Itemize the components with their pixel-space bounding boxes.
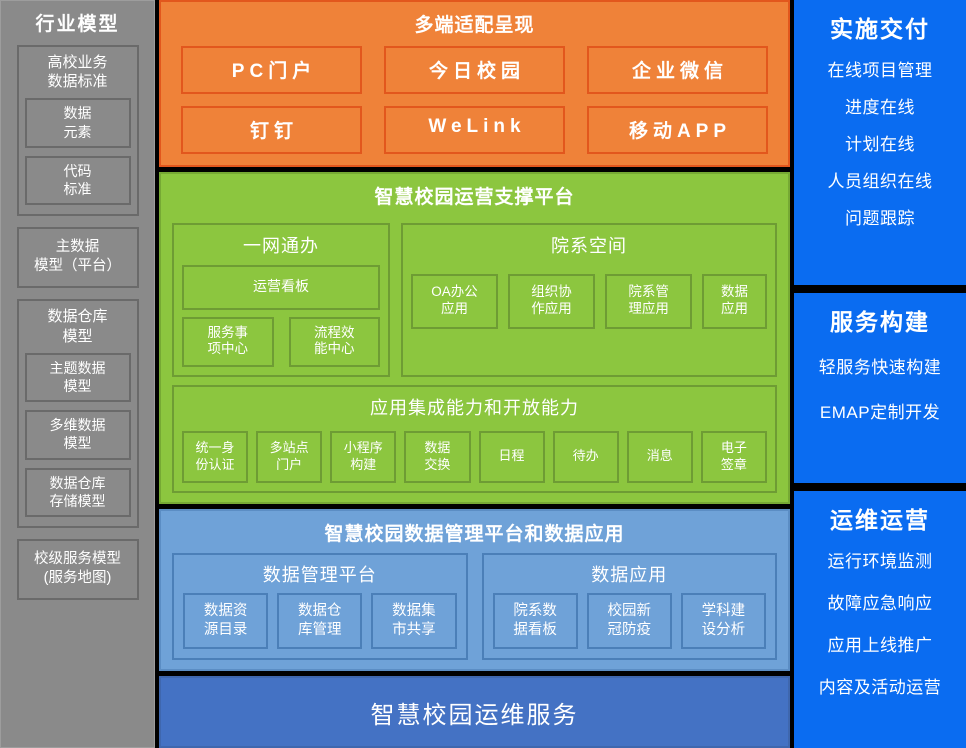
right-item-online-project-management[interactable]: 在线项目管理 [828,56,933,81]
box-department-management-app[interactable]: 院系管 理应用 [605,274,692,329]
box-department-data-dashboard[interactable]: 院系数 据看板 [493,593,578,650]
left-subitem-code-standard[interactable]: 代码 标准 [25,156,131,205]
data-application-chip-row: 院系数 据看板 校园新 冠防疫 学科建 设分析 [493,593,767,650]
box-electronic-seal[interactable]: 电子 签章 [701,431,767,483]
box-miniprogram-build[interactable]: 小程序 构建 [330,431,396,483]
box-oa-office-app[interactable]: OA办公 应用 [411,274,498,329]
section-title: 智慧校园运营支撑平台 [172,182,777,209]
right-panel-implementation-delivery: 实施交付 在线项目管理 进度在线 计划在线 人员组织在线 问题跟踪 [794,0,966,285]
panel-title: 应用集成能力和开放能力 [182,394,767,420]
box-data-resource-catalog[interactable]: 数据资 源目录 [183,593,268,650]
left-subitem-multidim-data-model[interactable]: 多维数据 模型 [25,410,131,459]
section-multi-terminal: 多端适配呈现 PC门户 今日校园 企业微信 钉钉 WeLink 移动APP [159,0,790,167]
terminal-chip-grid: PC门户 今日校园 企业微信 钉钉 WeLink 移动APP [181,46,768,154]
right-panel-title: 实施交付 [830,10,930,44]
panel-department-space: 院系空间 OA办公 应用 组织协 作应用 院系管 理应用 [401,223,777,377]
right-panel-service-construction: 服务构建 轻服务快速构建 EMAP定制开发 [794,293,966,483]
left-group-data-warehouse-model[interactable]: 数据仓库 模型 主题数据 模型 多维数据 模型 数据仓库 存储模型 [17,299,139,528]
panel-integration-openness: 应用集成能力和开放能力 统一身 份认证 多站点 门户 小程序 构建 [172,385,777,493]
left-sidebar-industry-model: 行业模型 高校业务 数据标准 数据 元素 代码 标准 主数据 模型（平台） 数据 [0,0,155,748]
box-data-warehouse-management[interactable]: 数据仓 库管理 [277,593,362,650]
panel-title: 一网通办 [182,232,380,258]
right-item-issue-tracking[interactable]: 问题跟踪 [845,204,915,229]
box-service-item-center[interactable]: 服务事 项中心 [182,317,274,368]
right-sidebar: 实施交付 在线项目管理 进度在线 计划在线 人员组织在线 问题跟踪 服务构建 轻… [794,0,966,748]
right-item-plan-online[interactable]: 计划在线 [845,130,915,155]
left-group-school-service-model[interactable]: 校级服务模型 (服务地图) [17,539,139,600]
chip-pc-portal[interactable]: PC门户 [181,46,362,94]
right-item-light-service-rapid-build[interactable]: 轻服务快速构建 [819,353,942,378]
box-data-exchange[interactable]: 数据 交换 [404,431,470,483]
chip-wecom[interactable]: 企业微信 [587,46,768,94]
right-item-emap-custom-development[interactable]: EMAP定制开发 [820,398,940,423]
right-item-app-launch-promotion[interactable]: 应用上线推广 [828,631,933,656]
box-schedule[interactable]: 日程 [479,431,545,483]
section-operation-support-platform: 智慧校园运营支撑平台 一网通办 运营看板 服务事 项中心 流程效 能中心 [159,172,790,504]
section-title: 多端适配呈现 [181,10,768,37]
right-panel-operation-maintenance: 运维运营 运行环境监测 故障应急响应 应用上线推广 内容及活动运营 [794,491,966,748]
panel-a-pair: 服务事 项中心 流程效 能中心 [182,317,380,368]
box-multisite-portal[interactable]: 多站点 门户 [256,431,322,483]
box-todo[interactable]: 待办 [553,431,619,483]
box-datamart-sharing[interactable]: 数据集 市共享 [371,593,456,650]
box-campus-covid-prevention[interactable]: 校园新 冠防疫 [587,593,672,650]
left-group-title: 数据仓库 模型 [21,307,135,345]
left-group-data-standard[interactable]: 高校业务 数据标准 数据 元素 代码 标准 [17,45,139,216]
left-sidebar-title: 行业模型 [35,9,119,36]
left-subitem-subject-data-model[interactable]: 主题数据 模型 [25,353,131,402]
section-title: 智慧校园数据管理平台和数据应用 [172,519,777,546]
chip-mobile-app[interactable]: 移动APP [587,106,768,154]
department-chip-row: OA办公 应用 组织协 作应用 院系管 理应用 数据 [411,274,767,329]
section-operation-maintenance-service: 智慧校园运维服务 [159,676,790,748]
right-item-fault-emergency-response[interactable]: 故障应急响应 [828,589,933,614]
section-data-management-platform: 智慧校园数据管理平台和数据应用 数据管理平台 数据资 源目录 数据仓 库管理 [159,509,790,672]
right-item-progress-online[interactable]: 进度在线 [845,93,915,118]
right-item-runtime-environment-monitoring[interactable]: 运行环境监测 [828,547,933,572]
architecture-diagram: 行业模型 高校业务 数据标准 数据 元素 代码 标准 主数据 模型（平台） 数据 [0,0,966,748]
right-item-content-activity-operation[interactable]: 内容及活动运营 [819,673,942,698]
chip-welink[interactable]: WeLink [384,106,565,154]
box-data-app[interactable]: 数据 应用 [702,274,767,329]
panel-data-management: 数据管理平台 数据资 源目录 数据仓 库管理 数据集 市共享 [172,553,468,661]
green-upper-row: 一网通办 运营看板 服务事 项中心 流程效 能中心 [172,223,777,377]
right-item-personnel-org-online[interactable]: 人员组织在线 [828,167,933,192]
left-subitem-warehouse-storage-model[interactable]: 数据仓库 存储模型 [25,468,131,517]
blue-panel-row: 数据管理平台 数据资 源目录 数据仓 库管理 数据集 市共享 [172,553,777,661]
right-panel-title: 服务构建 [830,303,930,337]
box-process-efficiency-center[interactable]: 流程效 能中心 [289,317,381,368]
center-column: 多端适配呈现 PC门户 今日校园 企业微信 钉钉 WeLink 移动APP 智慧… [159,0,790,748]
left-group-title: 高校业务 数据标准 [21,53,135,91]
chip-today-campus[interactable]: 今日校园 [384,46,565,94]
data-management-chip-row: 数据资 源目录 数据仓 库管理 数据集 市共享 [183,593,457,650]
box-discipline-construction-analysis[interactable]: 学科建 设分析 [681,593,766,650]
panel-data-application: 数据应用 院系数 据看板 校园新 冠防疫 学科建 设分析 [482,553,778,661]
panel-one-network-service: 一网通办 运营看板 服务事 项中心 流程效 能中心 [172,223,390,377]
integration-chip-row: 统一身 份认证 多站点 门户 小程序 构建 数据 交换 日 [182,431,767,483]
panel-title: 数据应用 [493,561,767,587]
left-group-master-data-model[interactable]: 主数据 模型（平台） [17,227,139,288]
left-subitem-data-element[interactable]: 数据 元素 [25,98,131,147]
panel-title: 数据管理平台 [183,561,457,587]
right-panel-title: 运维运营 [830,501,930,535]
box-unified-identity-auth[interactable]: 统一身 份认证 [182,431,248,483]
box-operation-dashboard[interactable]: 运营看板 [182,265,380,310]
panel-title: 院系空间 [411,232,767,258]
box-org-collaboration-app[interactable]: 组织协 作应用 [508,274,595,329]
box-message[interactable]: 消息 [627,431,693,483]
chip-dingtalk[interactable]: 钉钉 [181,106,362,154]
